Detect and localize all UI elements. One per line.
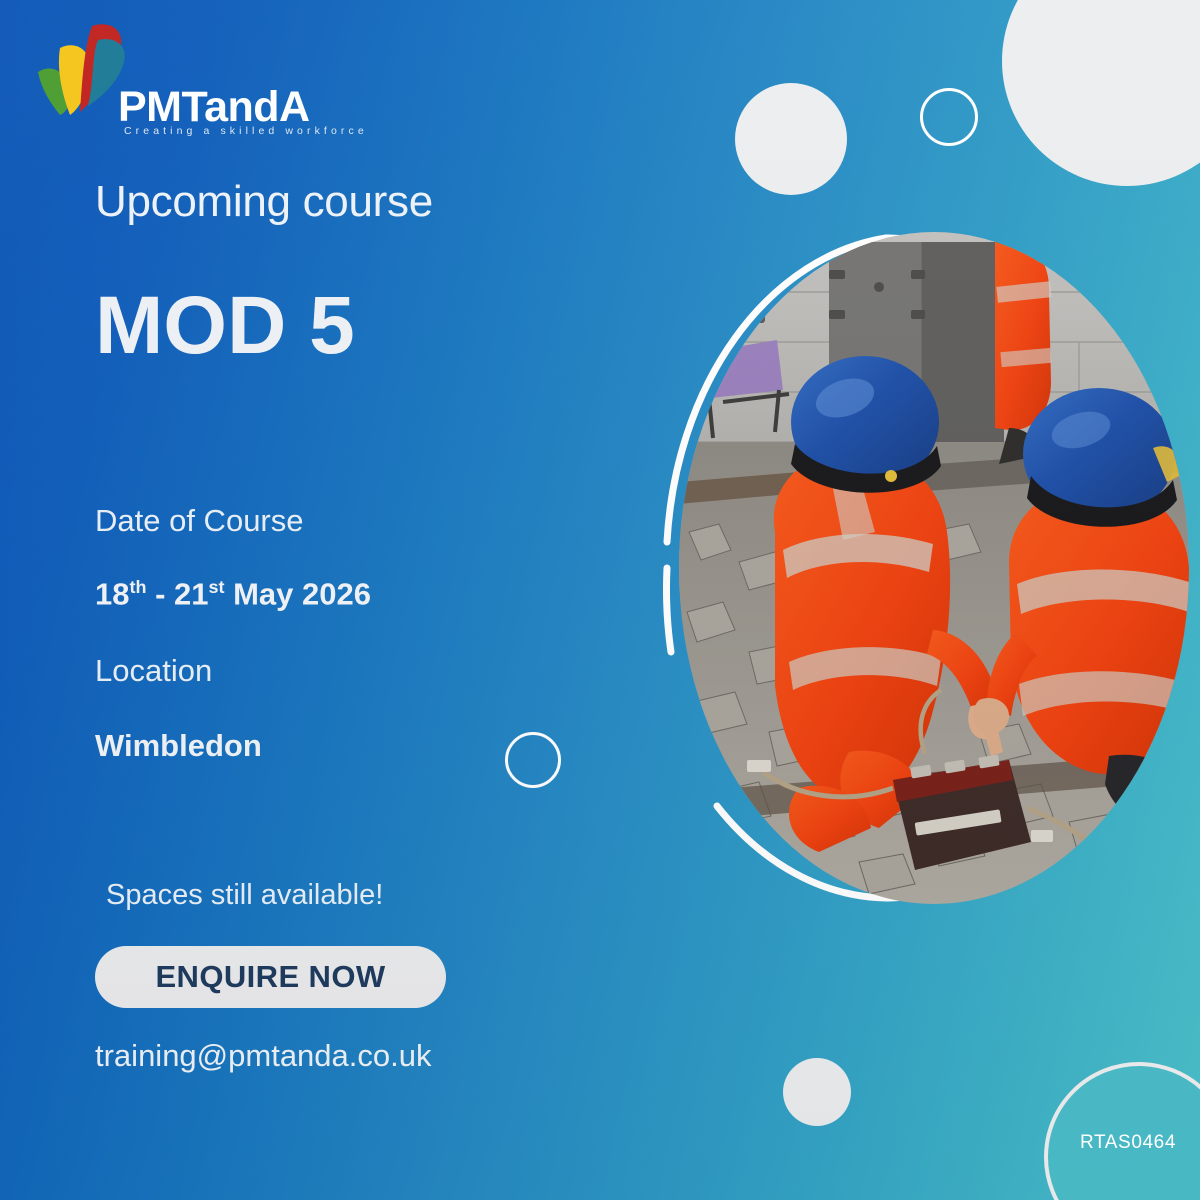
date-ordinal-1: th [129, 577, 146, 597]
decorative-circle-top-right [1002, 0, 1200, 186]
location-value: Wimbledon [95, 730, 262, 761]
photo-illustration [679, 232, 1189, 904]
brand-logo[interactable]: PMTandA Creating a skilled workforce [36, 18, 336, 130]
poster-canvas: RTAS0464 PMTandA Creating a skilled work… [0, 0, 1200, 1200]
photo-circle-mask [679, 232, 1189, 904]
contact-email-link[interactable]: training@pmtanda.co.uk [95, 1040, 432, 1071]
page-kicker: Upcoming course [95, 178, 433, 226]
swoosh-leaves-logo-icon [36, 20, 128, 116]
date-of-course-label: Date of Course [95, 505, 304, 536]
decorative-ring-middle [505, 732, 561, 788]
location-label: Location [95, 655, 212, 686]
brand-tagline: Creating a skilled workforce [124, 126, 368, 137]
date-prefix: 18 [95, 576, 129, 611]
reference-code-label: RTAS0464 [1080, 1132, 1176, 1154]
page-title: MOD 5 [95, 285, 355, 367]
decorative-ring-top [920, 88, 978, 146]
course-photo [655, 232, 1165, 904]
brand-name: PMTandA [118, 86, 310, 129]
date-of-course-value: 18th - 21st May 2026 [95, 578, 371, 609]
reference-code-circle [1044, 1062, 1200, 1200]
date-suffix: May 2026 [224, 576, 371, 611]
date-ordinal-2: st [208, 577, 224, 597]
date-mid: - 21 [146, 576, 208, 611]
decorative-circle-top-mid [735, 83, 847, 195]
availability-note: Spaces still available! [106, 881, 383, 910]
enquire-now-button[interactable]: ENQUIRE NOW [95, 946, 446, 1008]
decorative-circle-bottom [783, 1058, 851, 1126]
